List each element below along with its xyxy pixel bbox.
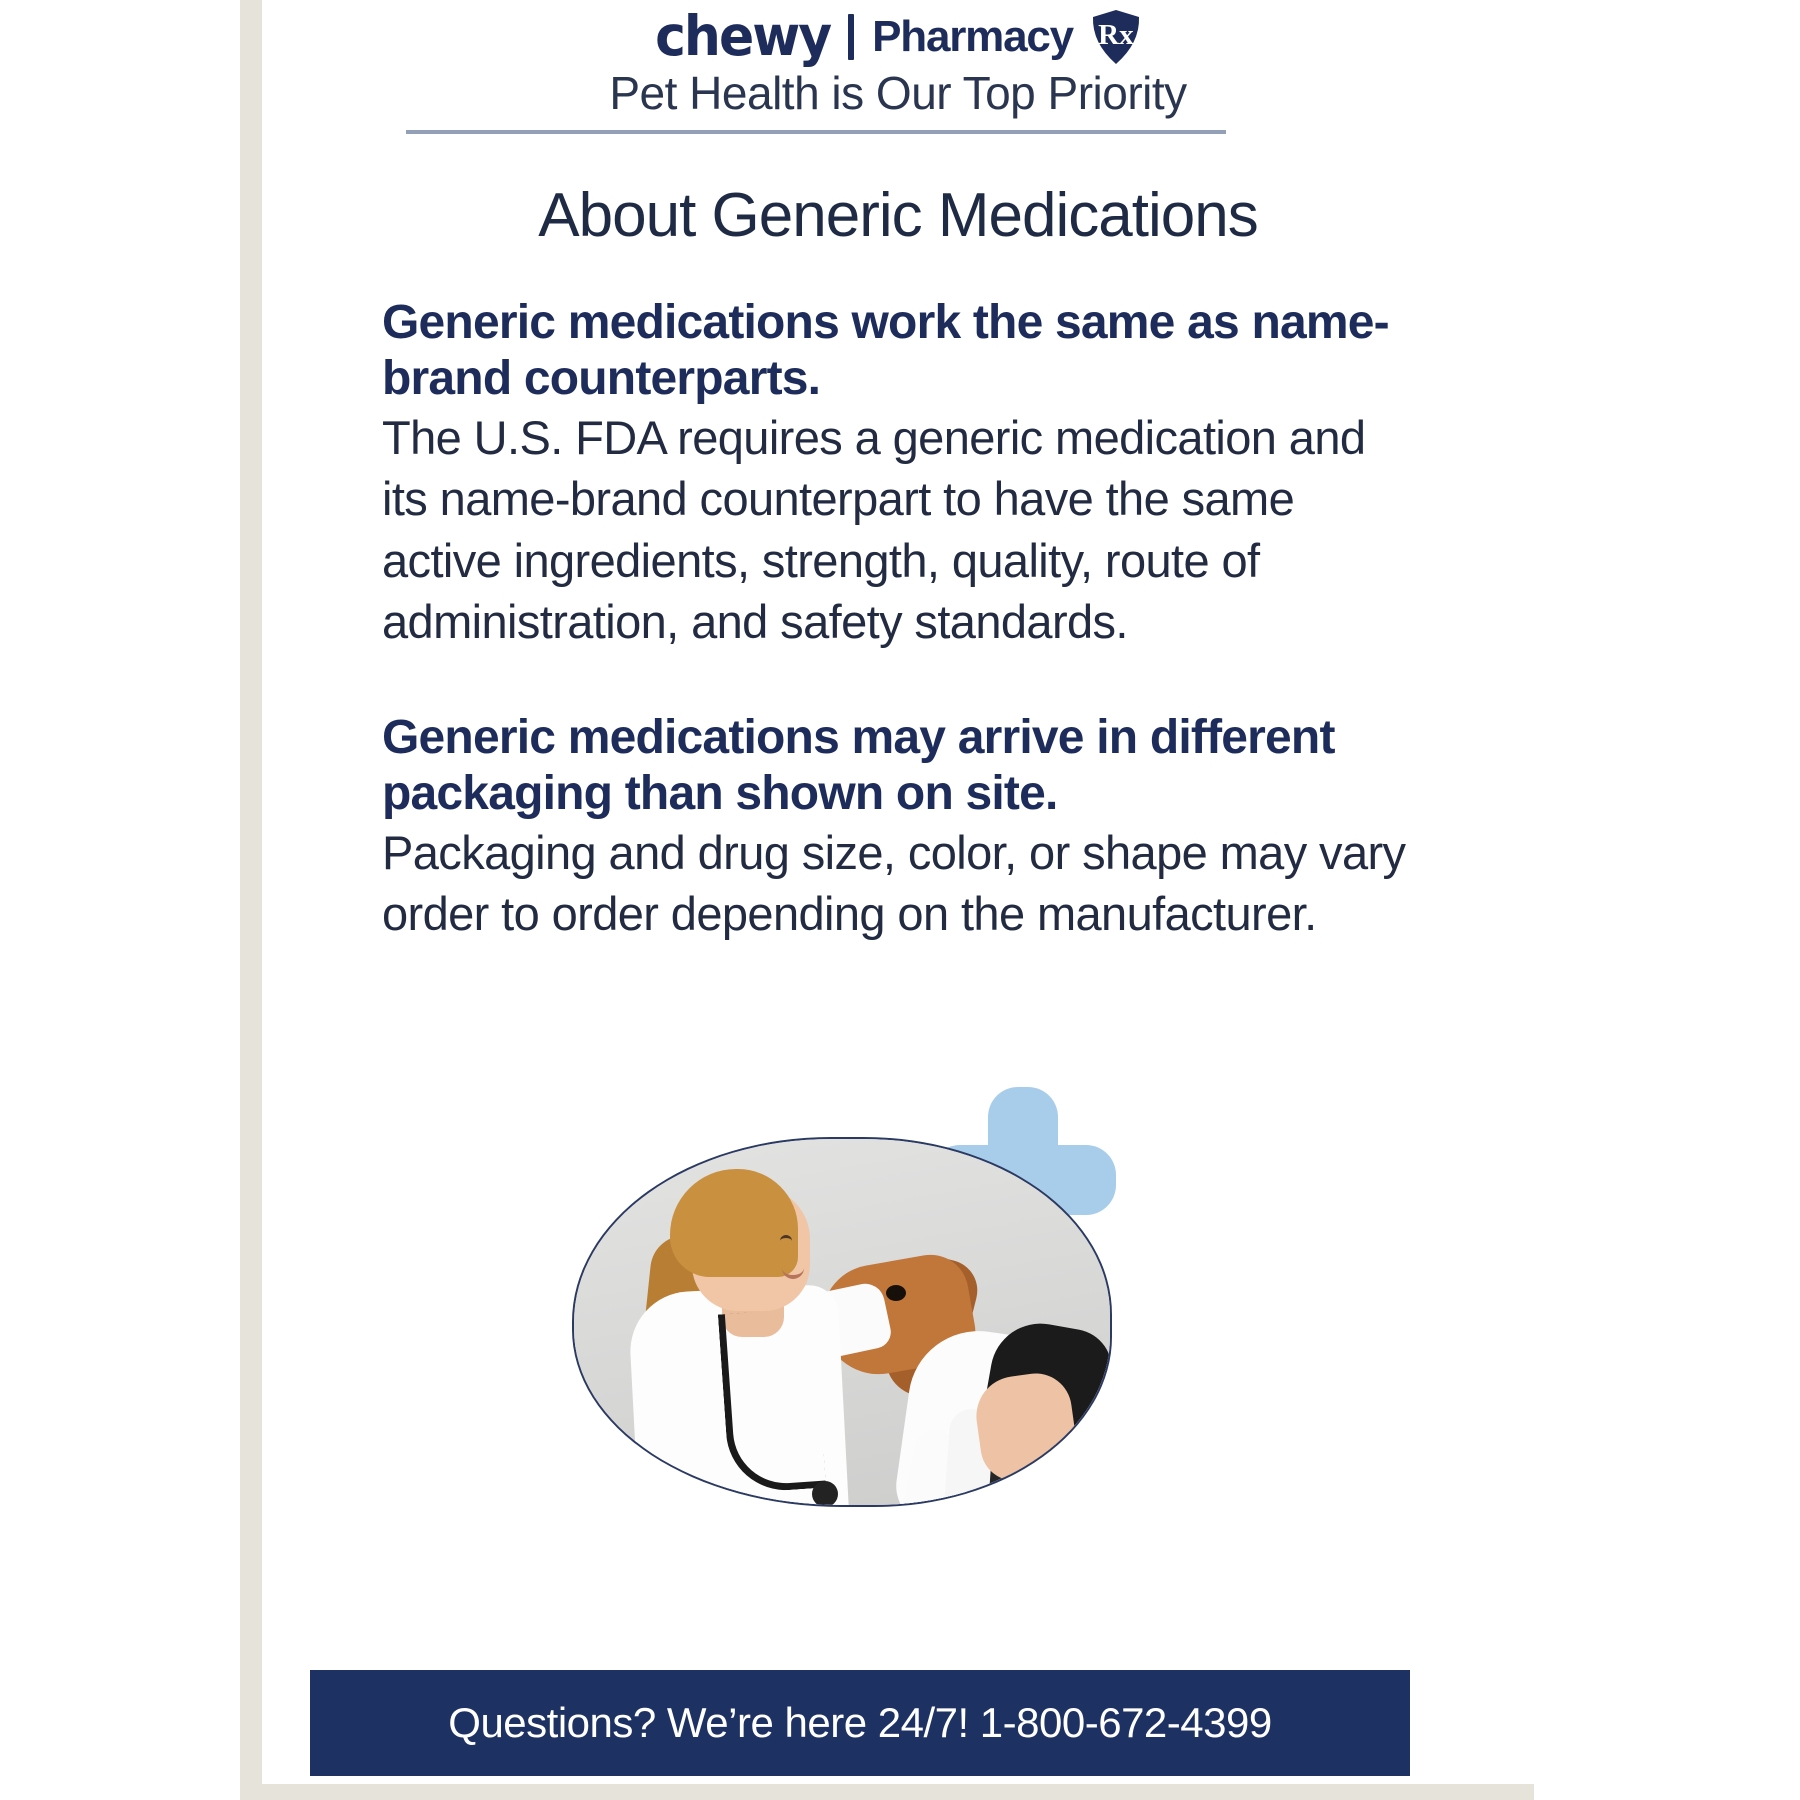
block-heading-2: Generic medications may arrive in differ… — [382, 710, 1412, 822]
dog-eye — [886, 1285, 906, 1301]
block-text-1: The U.S. FDA requires a generic medicati… — [382, 407, 1412, 651]
brand-header: chewy Pharmacy Rx — [262, 6, 1534, 68]
stethoscope-bell — [812, 1481, 838, 1507]
block-spacer — [382, 652, 1412, 710]
vet-eye — [780, 1235, 792, 1243]
body-copy: Generic medications work the same as nam… — [382, 295, 1412, 944]
flyer-content: chewy Pharmacy Rx Pet Health is Our Top … — [262, 0, 1534, 1800]
block-text-2: Packaging and drug size, color, or shape… — [382, 822, 1412, 944]
block-heading-1: Generic medications work the same as nam… — [382, 295, 1412, 407]
brand-separator-icon — [848, 14, 854, 60]
footer-phone-text: Questions? We’re here 24/7! 1-800-672-43… — [448, 1699, 1271, 1747]
header-divider — [406, 130, 1226, 134]
tagline: Pet Health is Our Top Priority — [262, 66, 1534, 120]
paper-left-edge — [240, 0, 262, 1800]
hero-illustration — [532, 1075, 1152, 1505]
footer-contact-bar: Questions? We’re here 24/7! 1-800-672-43… — [310, 1670, 1410, 1776]
pharmacy-label: Pharmacy — [872, 15, 1073, 59]
flyer-sheet: chewy Pharmacy Rx Pet Health is Our Top … — [240, 0, 1534, 1800]
rx-shield-icon: Rx — [1091, 9, 1141, 65]
chewy-logo: chewy — [655, 9, 830, 64]
page-title: About Generic Medications — [262, 180, 1534, 251]
paper-bottom-edge — [240, 1784, 1534, 1800]
vet-and-dog-photo — [572, 1137, 1112, 1507]
rx-badge-label: Rx — [1098, 21, 1133, 50]
